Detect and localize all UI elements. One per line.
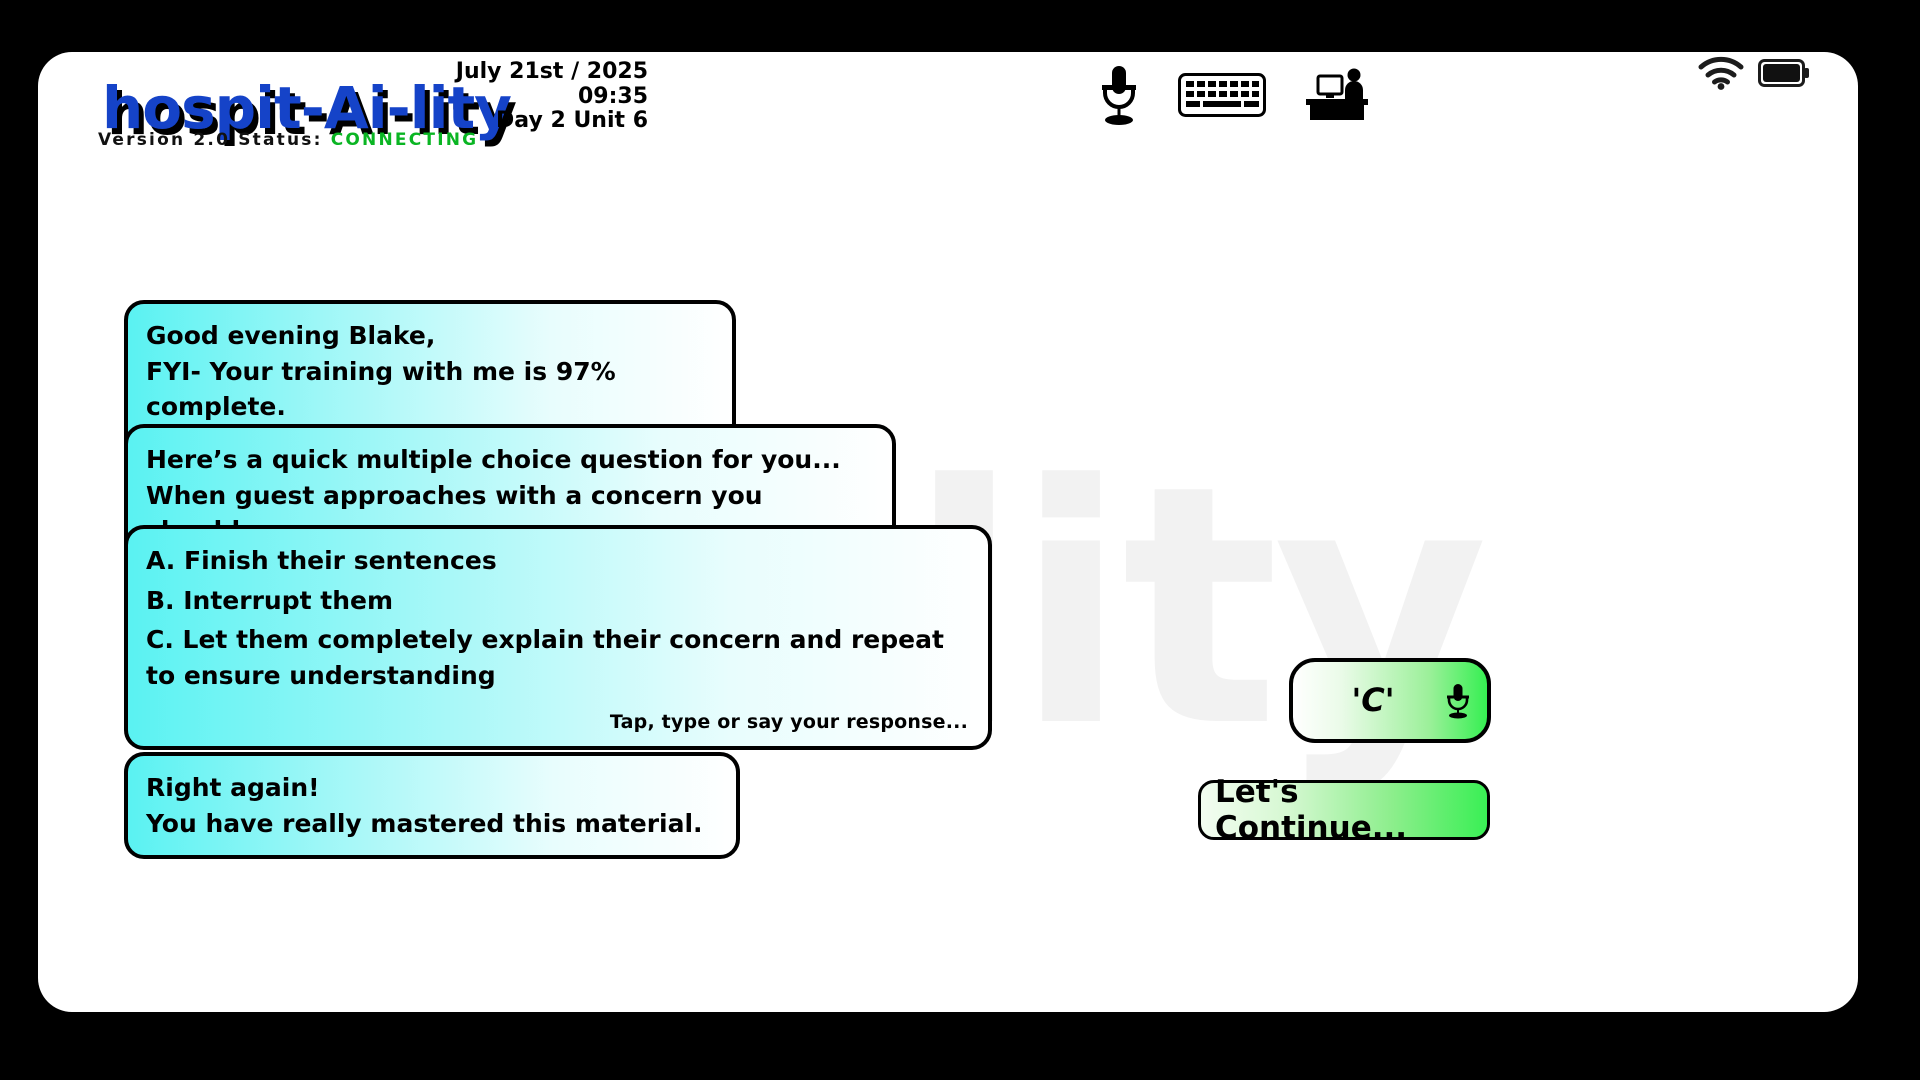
choice-option-b[interactable]: B. Interrupt them: [146, 583, 968, 619]
feedback-line-1: Right again!: [146, 770, 716, 806]
version-label: Version 2.0 Status:: [98, 130, 323, 150]
header-time: 09:35: [368, 85, 648, 110]
choice-option-a[interactable]: A. Finish their sentences: [146, 543, 968, 579]
header-date: July 21st / 2025: [368, 60, 648, 85]
front-desk-icon[interactable]: [1304, 68, 1370, 126]
feedback-line-2: You have really mastered this material.: [146, 806, 716, 842]
ai-message-choices: A. Finish their sentences B. Interrupt t…: [124, 525, 992, 750]
continue-button[interactable]: Let's Continue...: [1198, 780, 1490, 840]
user-response-bubble[interactable]: 'C': [1289, 658, 1491, 743]
input-mode-icons: [1098, 64, 1370, 130]
ai-message-feedback: Right again! You have really mastered th…: [124, 752, 740, 859]
greeting-line-1: Good evening Blake,: [146, 318, 712, 354]
choice-option-c[interactable]: C. Let them completely explain their con…: [146, 622, 968, 693]
microphone-icon[interactable]: [1445, 683, 1487, 719]
header-session: Day 2 Unit 6: [368, 109, 648, 134]
datetime-block: July 21st / 2025 09:35 Day 2 Unit 6: [368, 60, 648, 134]
battery-icon: [1758, 59, 1810, 91]
keyboard-icon[interactable]: [1178, 73, 1266, 121]
tablet-panel: Ality hospit-Ai-lity Version 2.0 Status:…: [38, 52, 1858, 1012]
app-root: Ality hospit-Ai-lity Version 2.0 Status:…: [0, 0, 1920, 1080]
greeting-line-2: FYI- Your training with me is 97% comple…: [146, 354, 712, 425]
wifi-icon: [1698, 56, 1744, 94]
user-response-value: 'C': [1293, 678, 1445, 723]
system-status-icons: [1698, 56, 1810, 94]
microphone-icon[interactable]: [1098, 64, 1140, 130]
question-line-1: Here’s a quick multiple choice question …: [146, 442, 872, 478]
response-hint: Tap, type or say your response...: [146, 709, 968, 736]
